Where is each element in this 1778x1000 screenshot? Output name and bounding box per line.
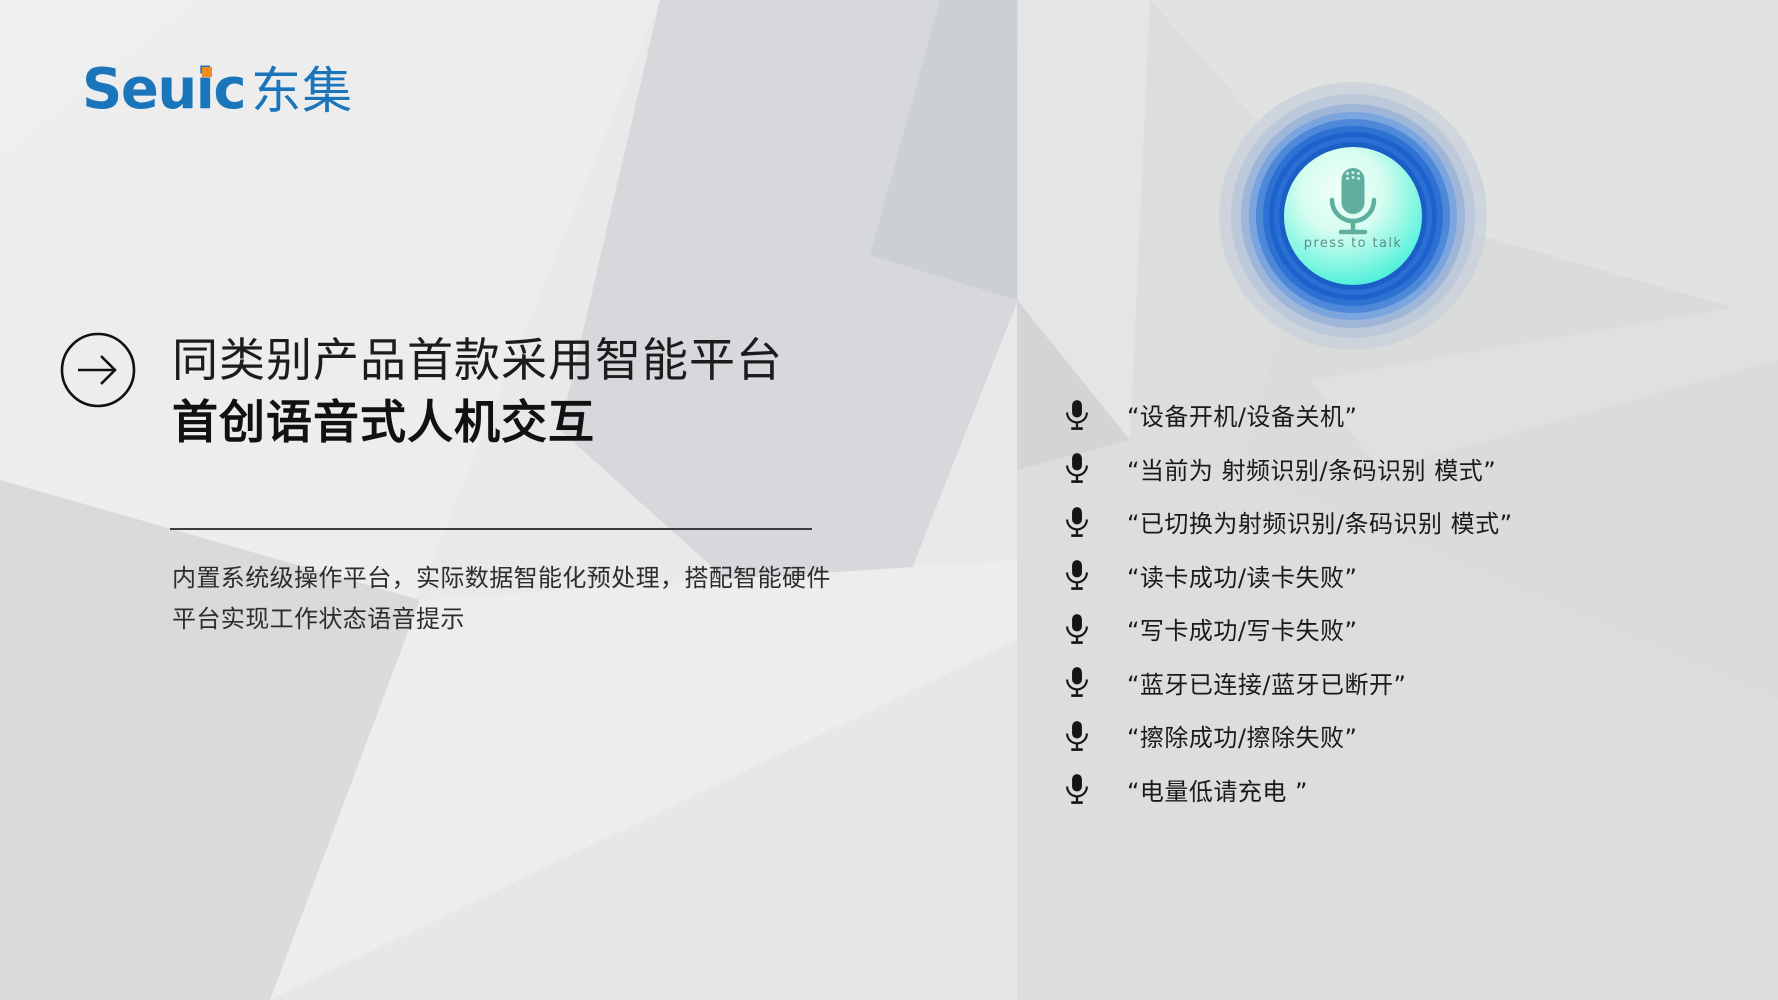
- list-item: “当前为 射频识别/条码识别 模式”: [1057, 442, 1757, 496]
- microphone-icon: [1057, 714, 1097, 758]
- voice-prompt-text: “已切换为射频识别/条码识别 模式”: [1127, 504, 1513, 539]
- list-item: “读卡成功/读卡失败”: [1057, 549, 1757, 603]
- voice-prompt-text: “写卡成功/写卡失败”: [1127, 611, 1357, 646]
- press-to-talk-button[interactable]: press to talk: [1217, 80, 1489, 352]
- headline: 同类别产品首款采用智能平台 首创语音式人机交互: [172, 332, 872, 452]
- microphone-icon: [1057, 607, 1097, 651]
- voice-prompt-text: “读卡成功/读卡失败”: [1127, 558, 1357, 593]
- list-item: “擦除成功/擦除失败”: [1057, 709, 1757, 763]
- microphone-icon: [1057, 446, 1097, 490]
- arrow-right-circle-icon: [58, 330, 138, 410]
- voice-prompt-text: “电量低请充电 ”: [1127, 772, 1308, 807]
- voice-prompt-text: “蓝牙已连接/蓝牙已断开”: [1127, 665, 1406, 700]
- list-item: “蓝牙已连接/蓝牙已断开”: [1057, 656, 1757, 710]
- list-item: “已切换为射频识别/条码识别 模式”: [1057, 495, 1757, 549]
- list-item: “写卡成功/写卡失败”: [1057, 602, 1757, 656]
- body-copy-line-1: 内置系统级操作平台，实际数据智能化预处理，搭配智能硬件: [172, 558, 902, 599]
- voice-prompt-text: “设备开机/设备关机”: [1127, 397, 1357, 432]
- slide-root: Seuic 东集 同类别产品首款采用智能平台 首创语音式人机交互 内置系统级操作…: [0, 0, 1778, 1000]
- voice-prompt-text: “当前为 射频识别/条码识别 模式”: [1127, 451, 1496, 486]
- voice-prompt-text: “擦除成功/擦除失败”: [1127, 718, 1357, 753]
- left-content-block: 同类别产品首款采用智能平台 首创语音式人机交互 内置系统级操作平台，实际数据智能…: [0, 0, 900, 1000]
- microphone-icon: [1057, 500, 1097, 544]
- list-item: “设备开机/设备关机”: [1057, 388, 1757, 442]
- headline-line-2: 首创语音式人机交互: [172, 394, 872, 452]
- press-to-talk-rings: [1217, 80, 1489, 352]
- body-copy-line-2: 平台实现工作状态语音提示: [172, 599, 902, 640]
- headline-line-1: 同类别产品首款采用智能平台: [172, 332, 872, 388]
- microphone-icon: [1057, 660, 1097, 704]
- microphone-icon: [1057, 393, 1097, 437]
- list-item: “电量低请充电 ”: [1057, 763, 1757, 817]
- headline-divider: [170, 528, 812, 530]
- body-copy: 内置系统级操作平台，实际数据智能化预处理，搭配智能硬件 平台实现工作状态语音提示: [172, 558, 902, 641]
- right-content-panel: press to talk “设备开机/设备关机”: [1017, 0, 1778, 1000]
- microphone-icon: [1057, 553, 1097, 597]
- voice-prompt-list: “设备开机/设备关机” “当前为 射频识别/条码识别 模式”: [1057, 388, 1757, 816]
- microphone-icon: [1057, 767, 1097, 811]
